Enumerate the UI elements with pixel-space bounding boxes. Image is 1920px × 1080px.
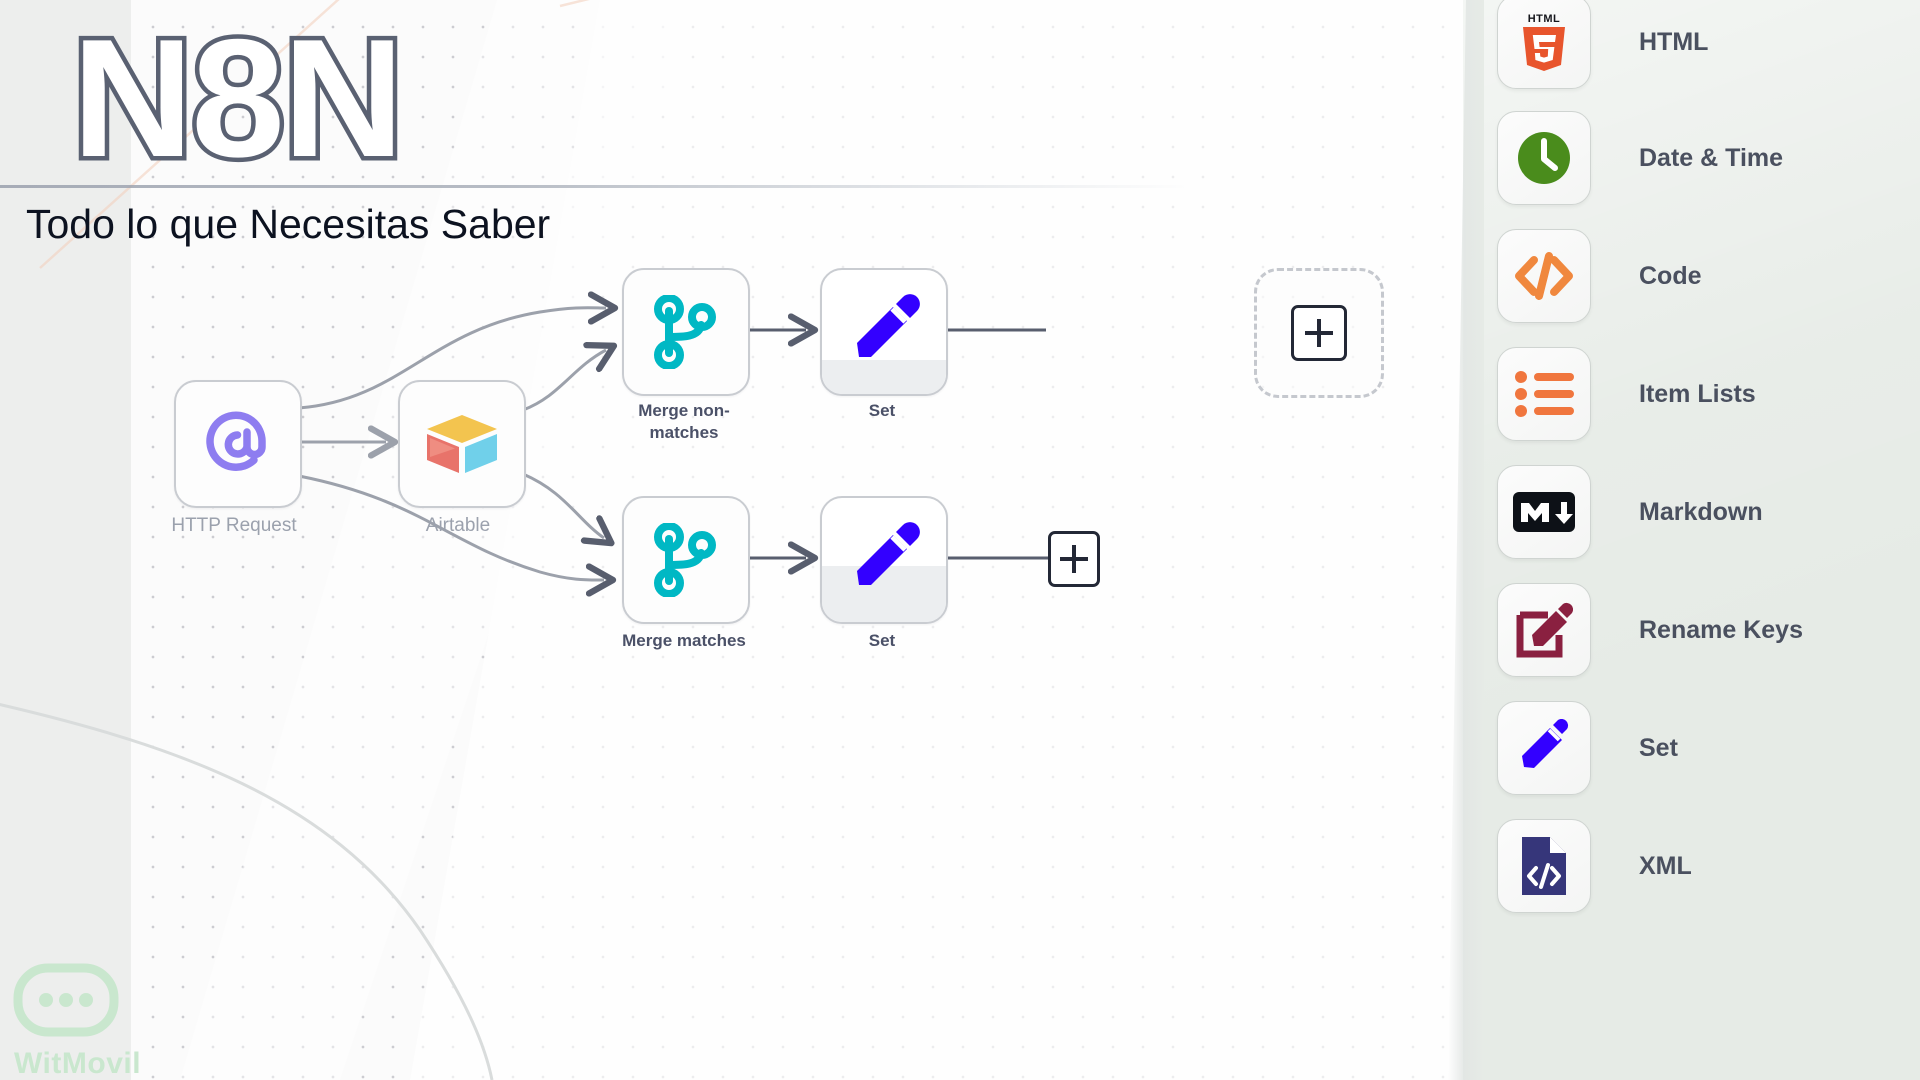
merge-branch-icon — [653, 523, 719, 597]
page-title: N8N — [72, 14, 402, 182]
bullet-list-icon-box — [1497, 347, 1591, 441]
panel-item-date-time[interactable]: Date & Time — [1497, 112, 1897, 204]
pencil-icon — [845, 521, 923, 599]
node-merge-matches[interactable] — [622, 496, 750, 624]
bullet-list-icon — [1514, 370, 1574, 418]
panel-item-label: Set — [1639, 734, 1678, 763]
page-subtitle: Todo lo que Necesitas Saber — [26, 198, 550, 250]
node-label-set-lower: Set — [792, 630, 972, 652]
panel-item-label: Item Lists — [1639, 380, 1756, 409]
clock-icon-box — [1497, 111, 1591, 205]
add-node-placeholder-lower[interactable] — [1048, 533, 1100, 585]
panel-item-label: XML — [1639, 852, 1692, 881]
pencil-icon — [1515, 719, 1573, 777]
panel-item-code[interactable]: Code — [1497, 230, 1897, 322]
node-set-upper[interactable] — [820, 268, 948, 396]
workflow-canvas[interactable]: HTTP Request Airtable Merge non- match — [0, 0, 1463, 1080]
node-merge-non-matches[interactable] — [622, 268, 750, 396]
code-brackets-icon — [1513, 248, 1575, 304]
chat-bubble-dots-icon — [12, 962, 120, 1040]
markdown-icon-box — [1497, 465, 1591, 559]
panel-item-label: Date & Time — [1639, 144, 1783, 173]
screen-root: HTTP Request Airtable Merge non- match — [0, 0, 1920, 1080]
pencil-icon-box — [1497, 701, 1591, 795]
node-label-airtable: Airtable — [368, 515, 548, 537]
panel-item-html[interactable]: HTML HTML — [1497, 0, 1897, 88]
add-node-placeholder-upper[interactable] — [1254, 268, 1384, 398]
xml-file-icon-box — [1497, 819, 1591, 913]
node-label-merge-matches: Merge matches — [594, 630, 774, 652]
merge-non-matches-line-2: matches — [650, 423, 719, 442]
plus-icon-lower[interactable] — [1048, 531, 1100, 587]
rename-pencil-icon-box — [1497, 583, 1591, 677]
plus-icon-upper[interactable] — [1291, 305, 1347, 361]
panel-item-xml[interactable]: XML — [1497, 820, 1897, 912]
panel-item-markdown[interactable]: Markdown — [1497, 466, 1897, 558]
panel-item-set[interactable]: Set — [1497, 702, 1897, 794]
markdown-icon — [1513, 492, 1575, 532]
panel-item-label: Code — [1639, 262, 1702, 291]
html5-icon: HTML — [1515, 11, 1573, 73]
xml-file-icon — [1518, 835, 1570, 897]
panel-item-item-lists[interactable]: Item Lists — [1497, 348, 1897, 440]
panel-item-rename-keys[interactable]: Rename Keys — [1497, 584, 1897, 676]
node-label-merge-non-matches: Merge non- matches — [594, 400, 774, 444]
panel-item-label: Markdown — [1639, 498, 1763, 527]
merge-branch-icon — [653, 295, 719, 369]
code-brackets-icon-box — [1497, 229, 1591, 323]
watermark-text: WitMovil — [14, 1047, 212, 1080]
watermark: WitMovil — [12, 962, 212, 1080]
pencil-icon — [845, 293, 923, 371]
node-http-request[interactable] — [174, 380, 302, 508]
airtable-icon — [421, 407, 503, 481]
svg-text:HTML: HTML — [1528, 13, 1561, 25]
node-airtable[interactable] — [398, 380, 526, 508]
clock-icon — [1514, 128, 1574, 188]
panel-item-label: HTML — [1639, 28, 1708, 57]
rename-pencil-icon — [1515, 601, 1573, 659]
panel-item-label: Rename Keys — [1639, 616, 1803, 645]
node-label-set-upper: Set — [792, 400, 972, 422]
html5-icon-box: HTML — [1497, 0, 1591, 89]
at-sign-icon — [199, 405, 277, 483]
node-label-http-request: HTTP Request — [144, 515, 324, 537]
node-set-lower[interactable] — [820, 496, 948, 624]
merge-non-matches-line-1: Merge non- — [638, 401, 730, 420]
